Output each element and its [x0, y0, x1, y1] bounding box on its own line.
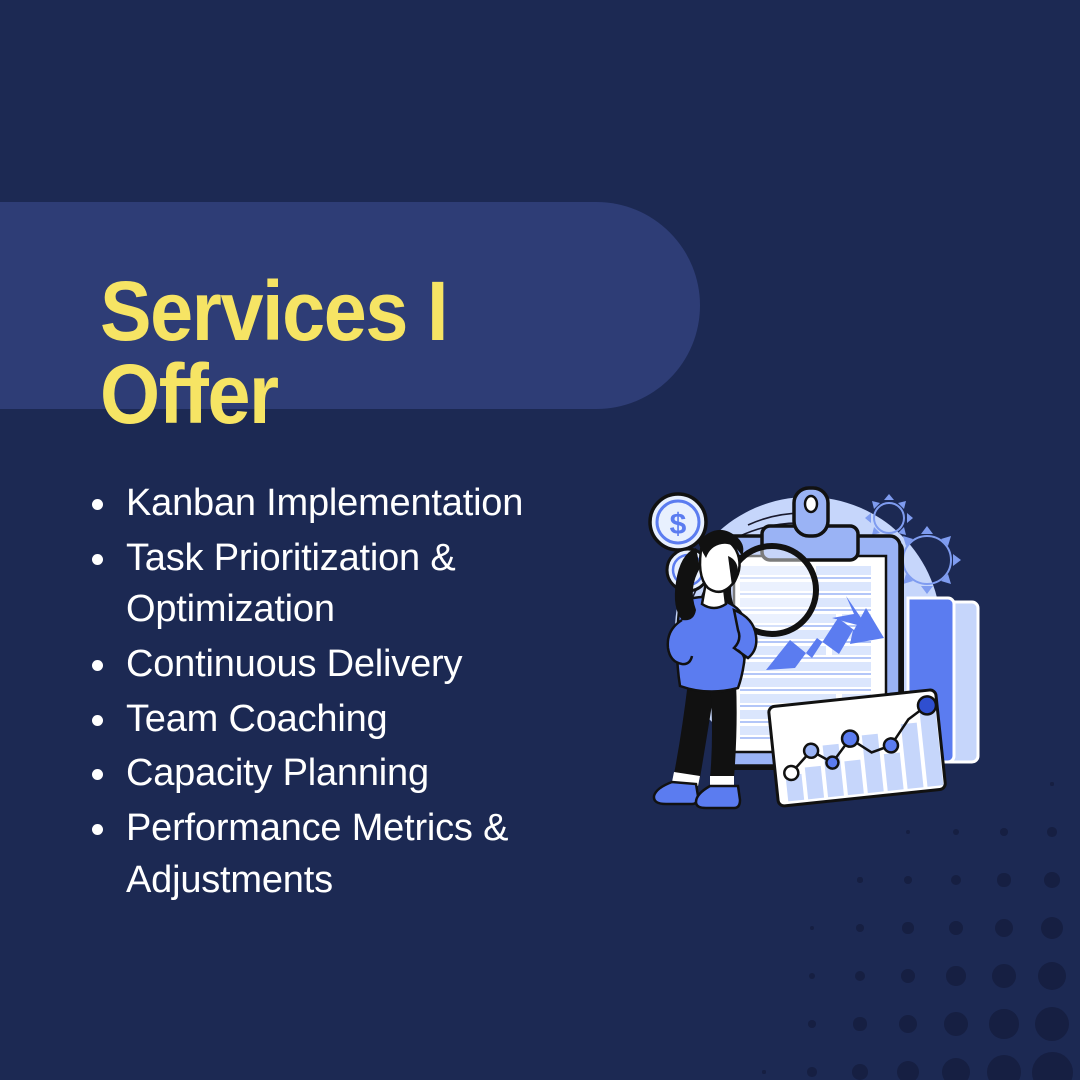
halftone-dot — [897, 1061, 919, 1080]
halftone-dot — [946, 966, 965, 985]
halftone-dot — [953, 829, 959, 835]
halftone-dot — [944, 1012, 968, 1036]
business-analysis-illustration: $ $ — [636, 470, 986, 815]
halftone-dot — [989, 1009, 1018, 1038]
halftone-dot — [1038, 962, 1066, 990]
halftone-dot — [997, 873, 1010, 886]
page-title: Services I Offer — [100, 270, 615, 436]
service-label: Continuous Delivery — [126, 643, 462, 685]
halftone-dot — [942, 1058, 970, 1080]
halftone-dot — [1035, 1007, 1070, 1042]
service-label: Kanban Implementation — [126, 482, 523, 524]
svg-text:$: $ — [670, 508, 687, 541]
bar-chart-card — [768, 689, 946, 806]
dollar-coin-large: $ — [650, 494, 706, 550]
halftone-dot — [1050, 782, 1053, 785]
list-item: Task Prioritization & Optimization — [78, 533, 638, 636]
halftone-dot — [762, 1070, 765, 1073]
list-item: Capacity Planning — [78, 748, 638, 800]
halftone-dot — [951, 875, 961, 885]
halftone-dot — [992, 964, 1016, 988]
list-item: Team Coaching — [78, 694, 638, 746]
service-label: Capacity Planning — [126, 752, 429, 794]
halftone-dot — [807, 1067, 817, 1077]
halftone-dot — [901, 969, 916, 984]
halftone-dot — [808, 1020, 816, 1028]
halftone-dot — [906, 830, 910, 834]
service-label: Performance Metrics & Adjustments — [126, 807, 508, 901]
halftone-dot — [853, 1017, 866, 1030]
halftone-dot — [1041, 917, 1063, 939]
halftone-dot — [902, 922, 913, 933]
halftone-dot — [810, 926, 814, 930]
poster-canvas: Services I Offer Kanban Implementation T… — [0, 0, 1080, 1080]
halftone-dot — [809, 973, 815, 979]
halftone-dot — [855, 971, 865, 981]
halftone-dot — [1044, 872, 1060, 888]
halftone-dot — [899, 1015, 918, 1034]
halftone-dot — [1032, 1052, 1073, 1080]
halftone-dot — [857, 877, 862, 882]
halftone-dot — [856, 924, 864, 932]
halftone-dot — [987, 1055, 1022, 1080]
halftone-dot — [1000, 828, 1008, 836]
halftone-dot — [852, 1064, 868, 1080]
services-list: Kanban Implementation Task Prioritizatio… — [78, 478, 638, 909]
service-label: Task Prioritization & Optimization — [126, 537, 455, 631]
list-item: Continuous Delivery — [78, 639, 638, 691]
halftone-dot — [904, 876, 912, 884]
halftone-dot — [995, 919, 1014, 938]
halftone-dot — [1047, 827, 1057, 837]
service-label: Team Coaching — [126, 698, 387, 740]
halftone-dot — [949, 921, 964, 936]
list-item: Kanban Implementation — [78, 478, 638, 530]
list-item: Performance Metrics & Adjustments — [78, 803, 638, 906]
